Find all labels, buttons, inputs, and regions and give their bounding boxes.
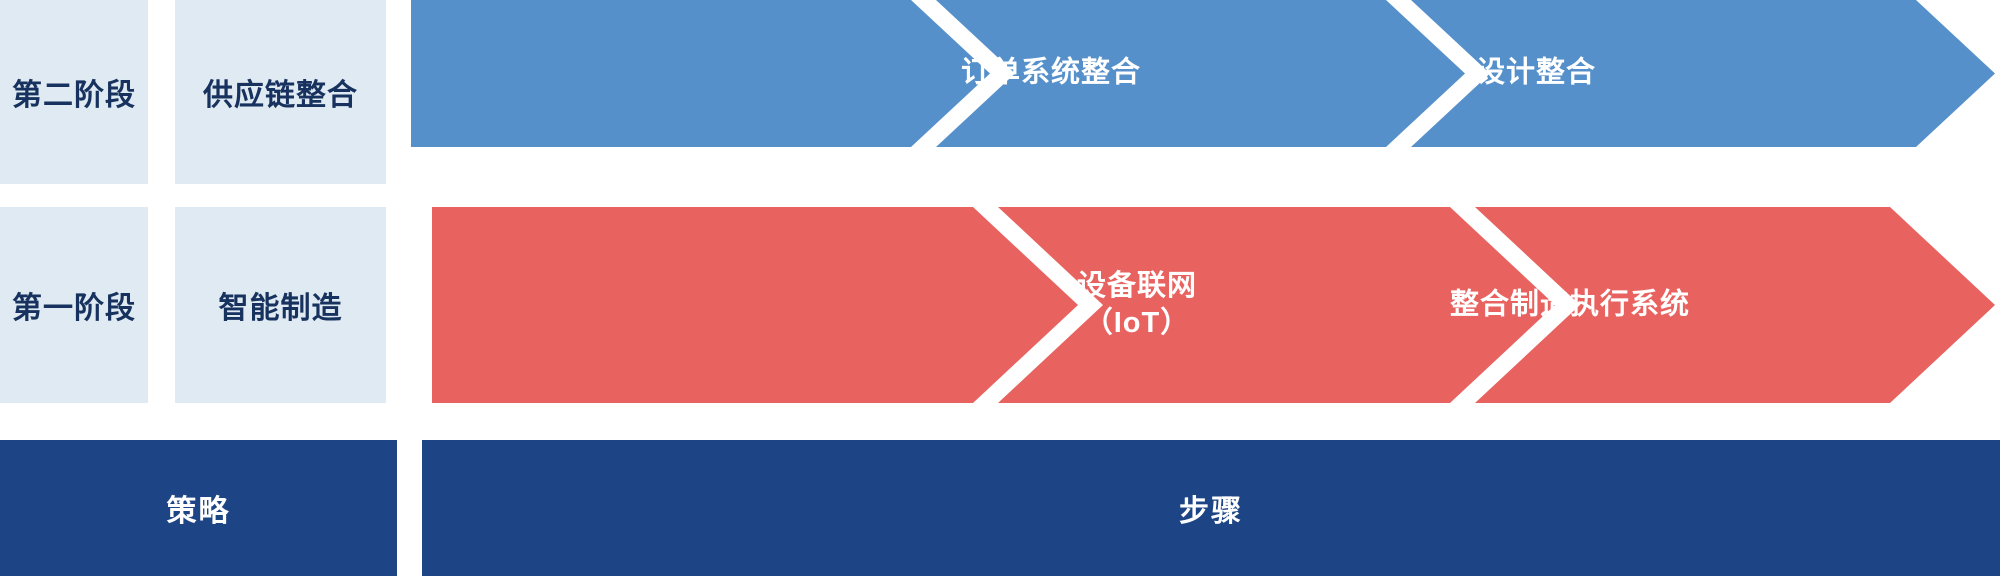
footer-strategy-label: 策略 — [167, 486, 231, 530]
theme-label-row1: 供应链整合 — [203, 70, 358, 114]
phase-cell-row2: 第一阶段 — [0, 207, 148, 403]
phase-label-row1: 第二阶段 — [12, 70, 136, 114]
chevron-segment-row1-3 — [1411, 0, 1995, 147]
phase-label-row2: 第一阶段 — [12, 283, 136, 327]
theme-cell-row2: 智能制造 — [175, 207, 386, 403]
footer-steps-label: 步骤 — [1179, 486, 1243, 530]
footer-steps-bar: 步骤 — [422, 440, 2000, 576]
chevron-segment-row1-1 — [411, 0, 990, 147]
theme-cell-row1: 供应链整合 — [175, 0, 386, 184]
footer-strategy-bar: 策略 — [0, 440, 397, 576]
chevron-band-row2: 设备联网 （IoT） 整合制造执行系统 分析 / 应用 / 控制 (大数据) — [432, 207, 2000, 403]
chevron-segment-row2-2 — [998, 207, 1555, 403]
theme-label-row2: 智能制造 — [219, 283, 343, 327]
chevron-band-row1: 订单系统整合 设计整合 供应链整合 — [411, 0, 2000, 147]
chevron-segment-row1-2 — [936, 0, 1465, 147]
process-diagram: 第二阶段 供应链整合 订单系统整合 设计整合 供应链整合 第一阶段 智能制造 设… — [0, 0, 2000, 576]
phase-cell-row1: 第二阶段 — [0, 0, 148, 184]
chevron-segment-row2-1 — [432, 207, 1078, 403]
